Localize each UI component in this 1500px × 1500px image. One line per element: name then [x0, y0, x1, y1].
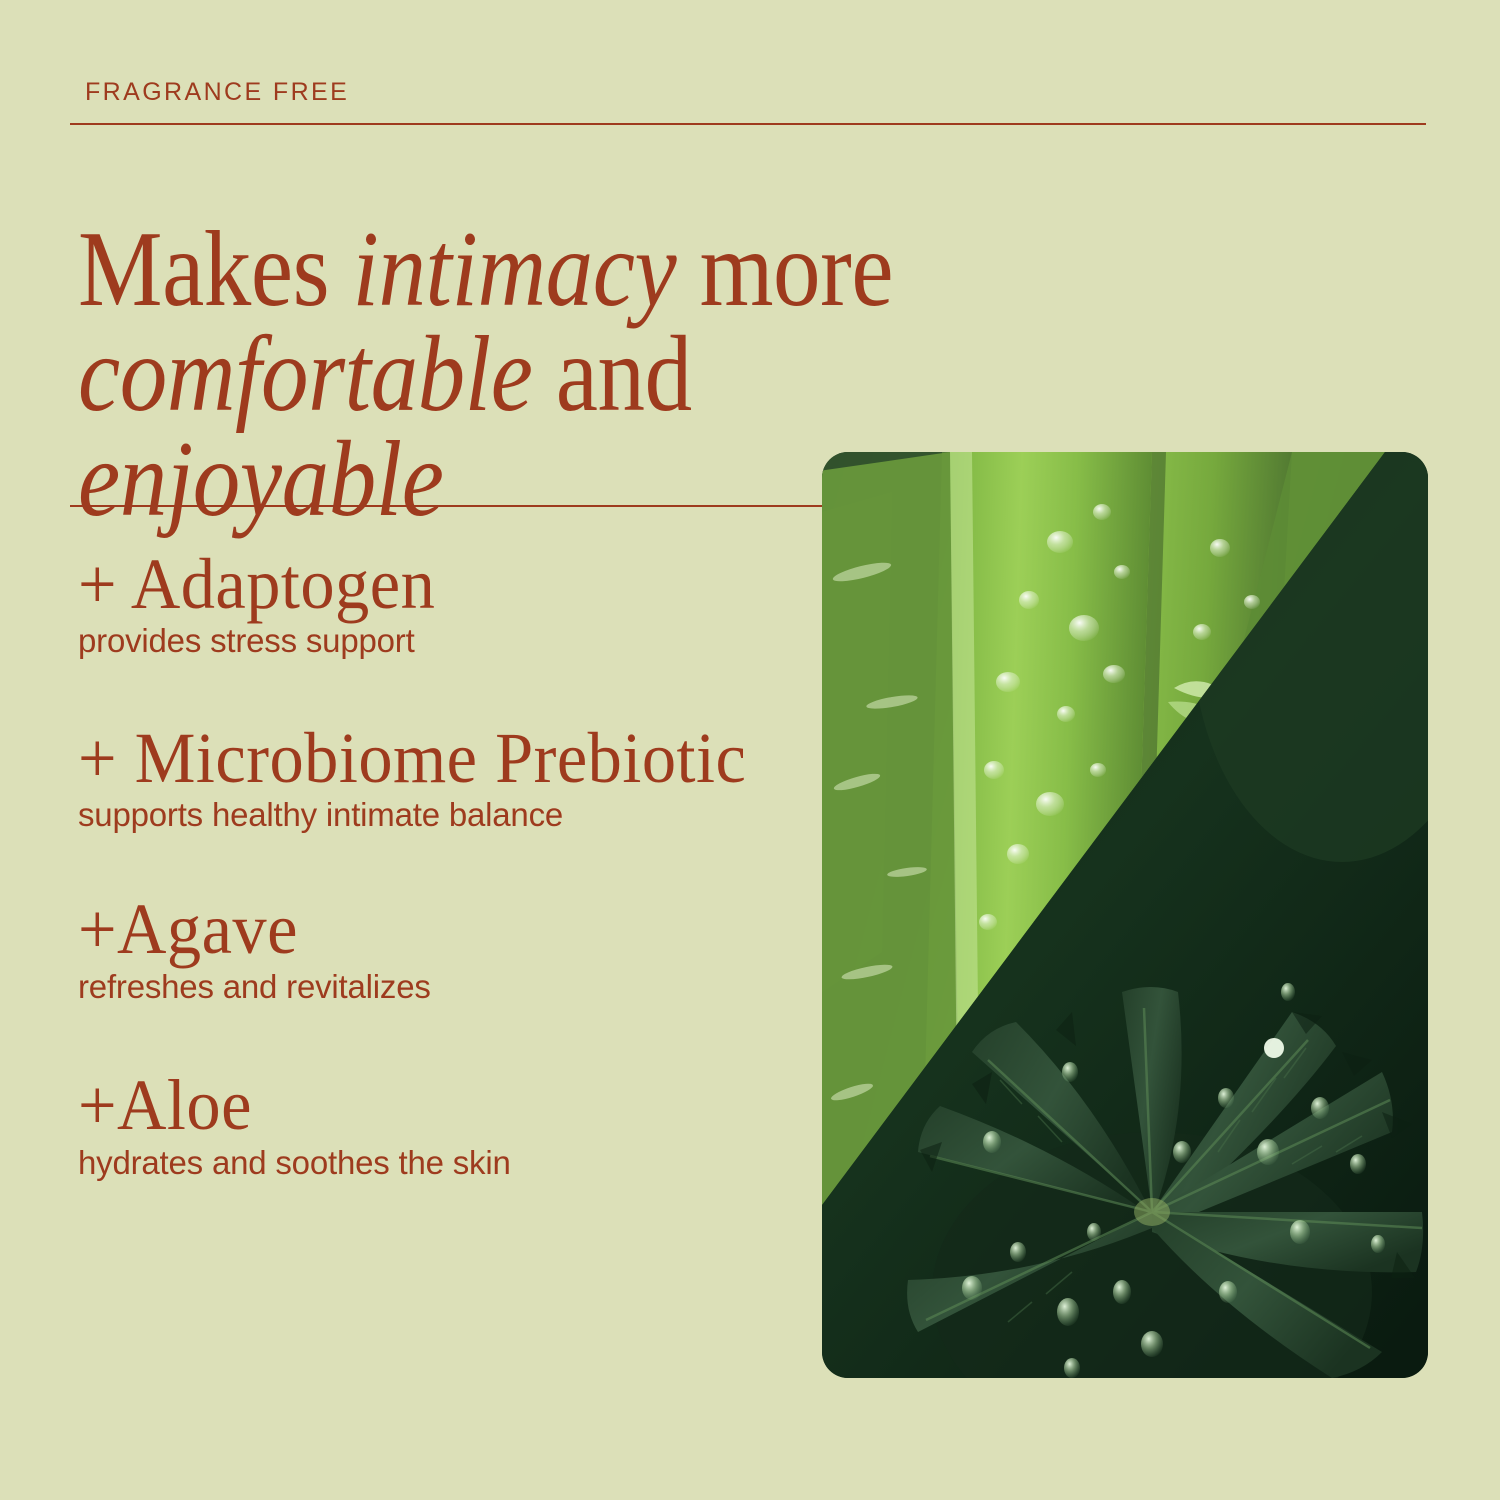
- ingredient-benefit: hydrates and soothes the skin: [78, 1145, 798, 1181]
- headline-emphasis-comfortable: comfortable: [78, 315, 532, 434]
- ingredient-list: + Adaptogen provides stress support + Mi…: [78, 548, 798, 1181]
- list-item: +Agave refreshes and revitalizes: [78, 893, 798, 1005]
- ingredient-title: +Agave: [78, 893, 762, 966]
- headline-text-3: and: [532, 315, 691, 434]
- divider-middle: [70, 505, 822, 507]
- divider-top: [70, 123, 1426, 125]
- headline-emphasis-enjoyable: enjoyable: [78, 420, 443, 539]
- kicker-label: FRAGRANCE FREE: [85, 78, 349, 107]
- ingredient-benefit: refreshes and revitalizes: [78, 969, 798, 1005]
- ingredient-title: +Aloe: [78, 1069, 762, 1142]
- product-ingredient-photo: [822, 452, 1428, 1378]
- headline-text-2: more: [676, 210, 893, 329]
- ingredient-benefit: supports healthy intimate balance: [78, 797, 798, 833]
- list-item: + Adaptogen provides stress support: [78, 548, 798, 660]
- ingredient-benefit: provides stress support: [78, 623, 798, 659]
- list-item: +Aloe hydrates and soothes the skin: [78, 1069, 798, 1181]
- photo-illustration: [822, 452, 1428, 1378]
- promo-graphic: FRAGRANCE FREE Makes intimacy morecomfor…: [0, 0, 1500, 1500]
- list-item: + Microbiome Prebiotic supports healthy …: [78, 722, 798, 834]
- ingredient-title: + Adaptogen: [78, 548, 762, 621]
- headline-text-1: Makes: [78, 210, 353, 329]
- headline-emphasis-intimacy: intimacy: [353, 210, 677, 329]
- ingredient-title: + Microbiome Prebiotic: [78, 722, 762, 795]
